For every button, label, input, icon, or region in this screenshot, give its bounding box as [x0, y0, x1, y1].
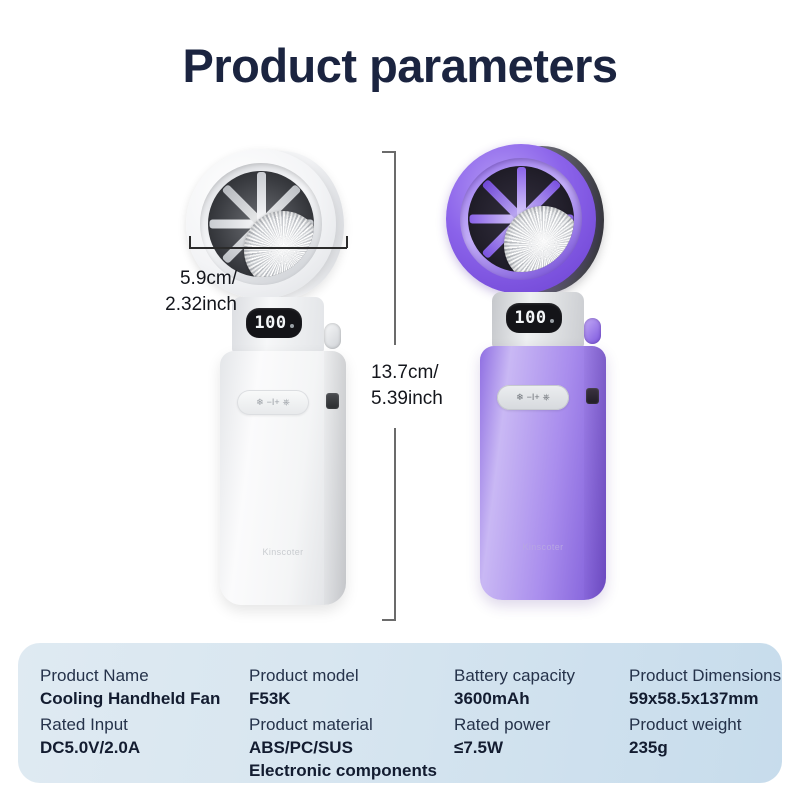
display-dot-purple: [550, 319, 554, 323]
fan-cavity-purple: [468, 166, 574, 272]
minus-level-plus-icon: −I+: [527, 393, 540, 402]
width-measure-cap-left: [189, 236, 191, 248]
fan-handle-white: ❄ −I+ ⎈ Kinscoter: [220, 351, 346, 605]
spec-value: F53K: [249, 688, 454, 711]
spec-item-battery-capacity: Battery capacity 3600mAh: [454, 665, 629, 714]
display-screen-purple: 100: [506, 303, 562, 333]
control-button-purple[interactable]: ❄ −I+ ⎈: [497, 385, 569, 410]
fan-speed-icon: ❄: [256, 398, 264, 407]
display-value-white: 100: [254, 315, 286, 332]
spec-item-product-material: Product material ABS/PC/SUS Electronic c…: [249, 714, 454, 783]
specifications-grid: Product Name Cooling Handheld Fan Produc…: [18, 643, 782, 783]
minus-level-plus-icon: −I+: [267, 398, 280, 407]
lanyard-loop-purple: [584, 318, 601, 344]
spec-value: DC5.0V/2.0A: [40, 737, 249, 760]
height-measure-line-upper: [394, 151, 396, 345]
spec-item-rated-input: Rated Input DC5.0V/2.0A: [40, 714, 249, 783]
fan-head-purple: [446, 140, 608, 302]
spec-item-product-model: Product model F53K: [249, 665, 454, 714]
fan-handle-purple: ❄ −I+ ⎈ Kinscoter: [480, 346, 606, 600]
spec-key: Rated power: [454, 714, 629, 737]
spec-key: Battery capacity: [454, 665, 629, 688]
product-image-stage: 100 ❄ −I+ ⎈ Kinscoter: [0, 0, 800, 640]
spec-value: 59x58.5x137mm: [629, 688, 800, 711]
spec-item-product-name: Product Name Cooling Handheld Fan: [40, 665, 249, 714]
width-measure-line: [189, 247, 347, 249]
charging-port-purple: [586, 388, 599, 404]
lanyard-loop-white: [324, 323, 341, 349]
fan-cavity-white: [208, 171, 314, 277]
control-button-white[interactable]: ❄ −I+ ⎈: [237, 390, 309, 415]
spec-item-product-dimensions: Product Dimensions 59x58.5x137mm: [629, 665, 800, 714]
charging-port-white: [326, 393, 339, 409]
spec-key: Rated Input: [40, 714, 249, 737]
fan-speed-icon: ❄: [516, 393, 524, 402]
specifications-panel: Product Name Cooling Handheld Fan Produc…: [18, 643, 782, 783]
width-measure-label: 5.9cm/ 2.32inch: [133, 266, 237, 318]
brand-logo-purple: Kinscoter: [480, 542, 606, 552]
spec-key: Product Dimensions: [629, 665, 800, 688]
spec-value: 3600mAh: [454, 688, 629, 711]
spec-value: 235g: [629, 737, 800, 760]
spec-key: Product model: [249, 665, 454, 688]
spec-value: Cooling Handheld Fan: [40, 688, 249, 711]
spec-key: Product Name: [40, 665, 249, 688]
display-screen-white: 100: [246, 308, 302, 338]
spec-value: ABS/PC/SUS Electronic components: [249, 737, 454, 783]
handle-side-edge-white: [324, 351, 346, 605]
power-icon: ⎈: [283, 398, 290, 407]
brand-logo-white: Kinscoter: [220, 547, 346, 557]
spec-key: Product weight: [629, 714, 800, 737]
spec-item-product-weight: Product weight 235g: [629, 714, 800, 783]
width-measure-cap-right: [346, 236, 348, 248]
handle-side-edge-purple: [584, 346, 606, 600]
height-measure-cap-bottom: [382, 619, 396, 621]
spec-item-rated-power: Rated power ≤7.5W: [454, 714, 629, 783]
display-value-purple: 100: [514, 310, 546, 327]
spec-value: ≤7.5W: [454, 737, 629, 760]
power-icon: ⎈: [543, 393, 550, 402]
spec-key: Product material: [249, 714, 454, 737]
height-measure-line-lower: [394, 428, 396, 620]
height-measure-label: 13.7cm/ 5.39inch: [371, 360, 481, 412]
display-dot-white: [290, 324, 294, 328]
